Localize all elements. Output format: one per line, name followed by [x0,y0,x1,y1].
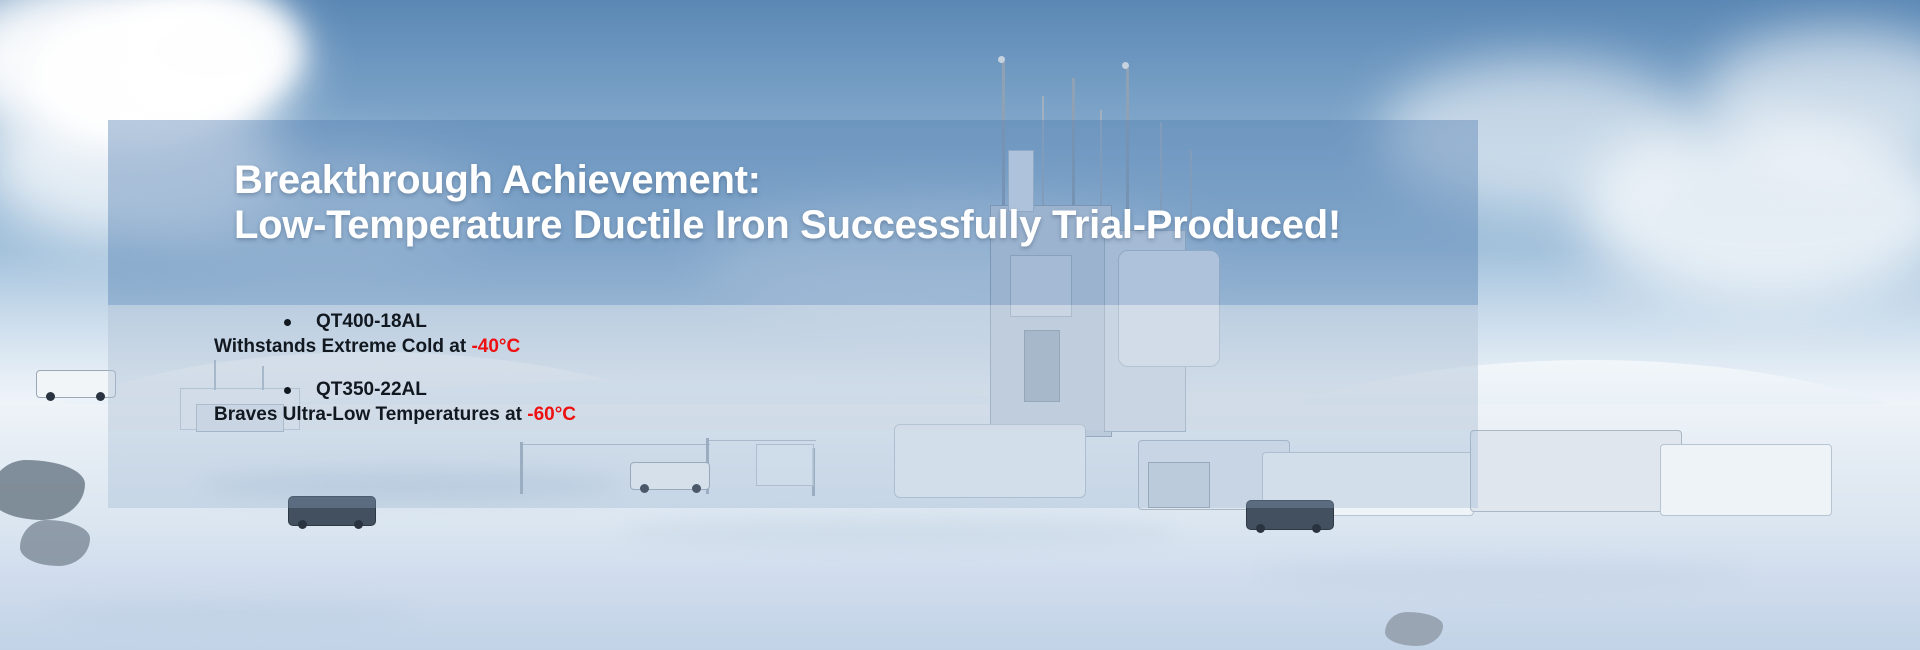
feature-list: QT400-18AL Withstands Extreme Cold at -4… [108,310,1478,446]
grade-label: QT400-18AL [316,310,427,334]
description-text: Braves Ultra-Low Temperatures at [214,404,527,425]
bullet-dot-icon [284,387,291,394]
snow-shadow [1250,560,1750,590]
snow-shadow [620,520,1180,546]
page-title: Breakthrough Achievement: Low-Temperatur… [108,158,1478,248]
promo-banner: Breakthrough Achievement: Low-Temperatur… [0,0,1920,650]
wheel-icon [354,520,363,529]
antenna-tip-icon [1122,62,1129,69]
wheel-icon [1256,524,1265,533]
grade-heading: QT350-22AL [284,378,1478,402]
facility-building [1470,430,1682,512]
temperature-value: -40°C [471,336,520,357]
list-item: QT400-18AL Withstands Extreme Cold at -4… [284,310,1478,360]
wheel-icon [298,520,307,529]
snow-shadow [40,600,420,628]
bullet-dot-icon [284,319,291,326]
grade-description: Withstands Extreme Cold at -40°C [214,334,1478,360]
facility-building [1660,444,1832,516]
grade-description: Braves Ultra-Low Temperatures at -60°C [214,402,1478,428]
list-item: QT350-22AL Braves Ultra-Low Temperatures… [284,378,1478,428]
wheel-icon [1312,524,1321,533]
grade-heading: QT400-18AL [284,310,1478,334]
grade-label: QT350-22AL [316,378,427,402]
title-line-2: Low-Temperature Ductile Iron Successfull… [234,203,1478,248]
content-overlay-panel: Breakthrough Achievement: Low-Temperatur… [108,120,1478,430]
title-line-1: Breakthrough Achievement: [234,158,1478,203]
wheel-icon [46,392,55,401]
description-text: Withstands Extreme Cold at [214,336,471,357]
antenna-tip-icon [998,56,1005,63]
wheel-icon [96,392,105,401]
temperature-value: -60°C [527,404,576,425]
